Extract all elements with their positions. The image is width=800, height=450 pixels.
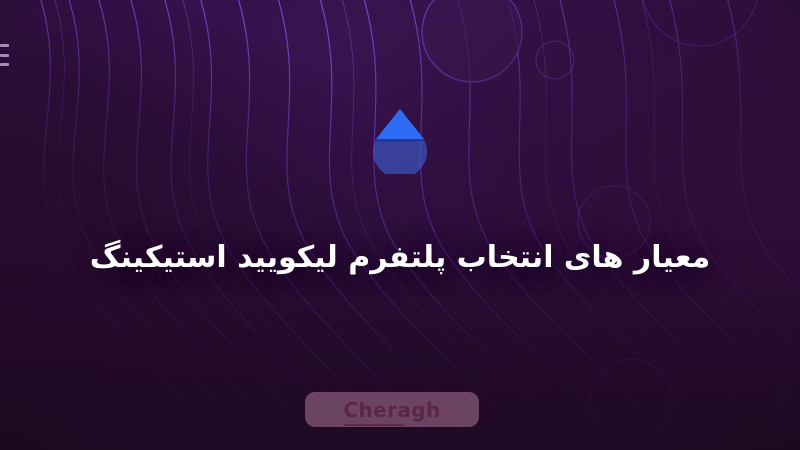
menu-line [0, 54, 9, 57]
lido-droplet-logo [366, 106, 434, 174]
menu-line [0, 44, 9, 47]
menu-line [0, 63, 9, 66]
page-title: معیار های انتخاب پلتفرم لیکویید استیکینگ [0, 239, 800, 277]
menu-icon[interactable] [0, 44, 9, 66]
watermark-badge: Cheragh [305, 392, 479, 427]
watermark-label: Cheragh [343, 398, 440, 422]
hero-banner: معیار های انتخاب پلتفرم لیکویید استیکینگ… [0, 0, 800, 450]
background-vignette [0, 0, 800, 450]
